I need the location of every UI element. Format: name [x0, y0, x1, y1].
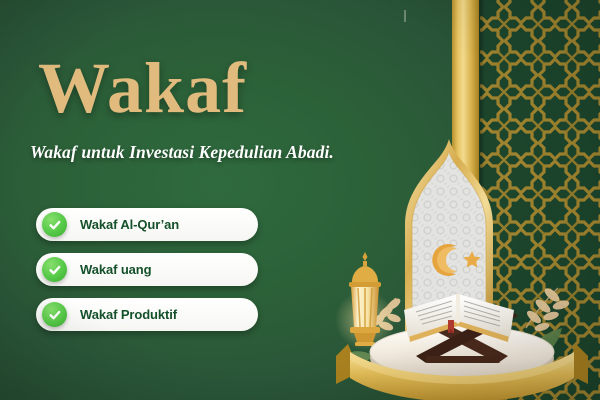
list-item[interactable]: Wakaf uang: [36, 253, 258, 286]
page-subtitle: Wakaf untuk Investasi Kepedulian Abadi.: [30, 142, 334, 163]
decor-tick-mark: [404, 10, 406, 22]
list-item-label: Wakaf uang: [80, 262, 151, 277]
feature-list: Wakaf Al-Qur’an Wakaf uang Wakaf Produkt…: [36, 208, 258, 343]
wakaf-promo-banner: Wakaf Wakaf untuk Investasi Kepedulian A…: [0, 0, 600, 400]
list-item[interactable]: Wakaf Produktif: [36, 298, 258, 331]
check-circle-icon: [42, 257, 67, 282]
list-item-label: Wakaf Produktif: [80, 307, 177, 322]
list-item[interactable]: Wakaf Al-Qur’an: [36, 208, 258, 241]
wakaf-illustration: [330, 120, 600, 400]
check-circle-icon: [42, 302, 67, 327]
page-title: Wakaf: [38, 52, 247, 124]
check-circle-icon: [42, 212, 67, 237]
list-item-label: Wakaf Al-Qur’an: [80, 217, 179, 232]
gold-lantern: [335, 252, 395, 350]
